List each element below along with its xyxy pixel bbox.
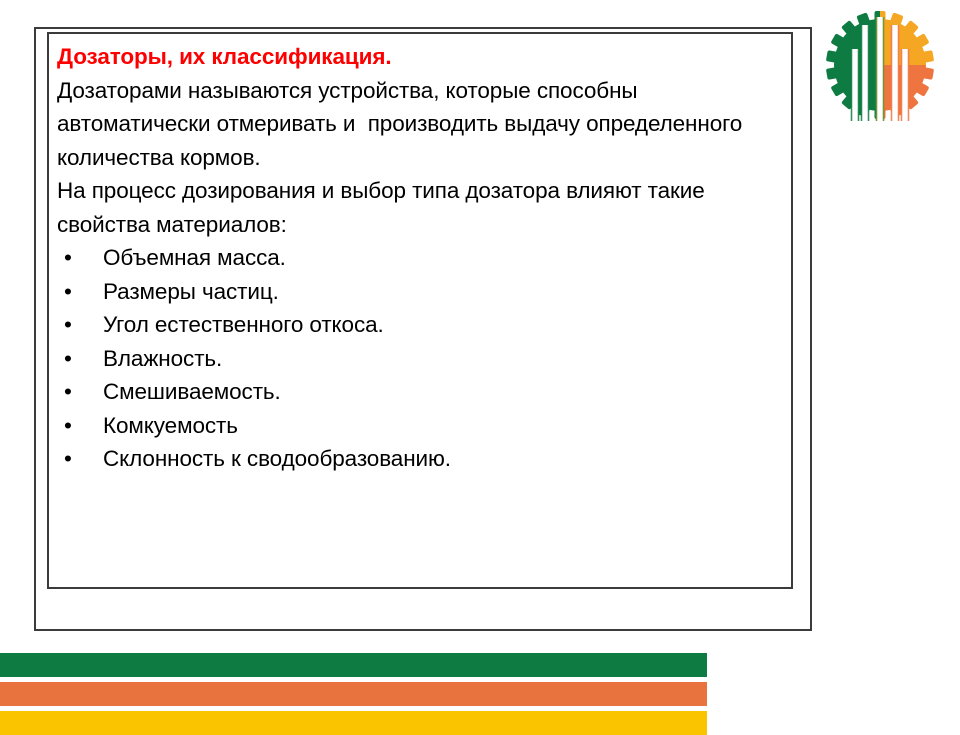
bullet-dot-icon: •: [64, 342, 72, 376]
bullet-dot-icon: •: [64, 409, 72, 443]
bullet-dot-icon: •: [64, 442, 72, 476]
slide-canvas: Дозаторы, их классификация. Дозаторами н…: [0, 0, 960, 720]
properties-bullet-list: • Объемная масса. • Размеры частиц. • Уг…: [57, 241, 787, 476]
list-item-label: Угол естественного откоса.: [103, 312, 384, 337]
list-item: • Комкуемость: [57, 409, 787, 443]
bullet-dot-icon: •: [64, 308, 72, 342]
list-item: • Смешиваемость.: [57, 375, 787, 409]
list-item: • Влажность.: [57, 342, 787, 376]
wheat-ear-mark: [855, 17, 905, 121]
list-item-label: Смешиваемость.: [103, 379, 281, 404]
list-item: • Склонность к сводообразованию.: [57, 442, 787, 476]
gear-wheat-logo: [818, 3, 942, 127]
footer-bar-orange: [0, 682, 707, 706]
footer-bar-green: [0, 653, 707, 677]
content-body: Дозаторы, их классификация. Дозаторами н…: [57, 40, 787, 476]
bullet-dot-icon: •: [64, 375, 72, 409]
list-item: • Угол естественного откоса.: [57, 308, 787, 342]
list-item-label: Склонность к сводообразованию.: [103, 446, 451, 471]
list-item: • Размеры частиц.: [57, 275, 787, 309]
list-item-label: Комкуемость: [103, 413, 238, 438]
paragraph-factors-intro: На процесс дозирования и выбор типа доза…: [57, 174, 787, 241]
content-frame: Дозаторы, их классификация. Дозаторами н…: [47, 32, 793, 589]
list-item-label: Влажность.: [103, 346, 222, 371]
paragraph-definition: Дозаторами называются устройства, которы…: [57, 74, 787, 175]
bullet-dot-icon: •: [64, 275, 72, 309]
footer-bar-yellow: [0, 711, 707, 735]
bullet-dot-icon: •: [64, 241, 72, 275]
list-item: • Объемная масса.: [57, 241, 787, 275]
list-item-label: Размеры частиц.: [103, 279, 279, 304]
list-item-label: Объемная масса.: [103, 245, 286, 270]
slide-title: Дозаторы, их классификация.: [57, 40, 787, 74]
